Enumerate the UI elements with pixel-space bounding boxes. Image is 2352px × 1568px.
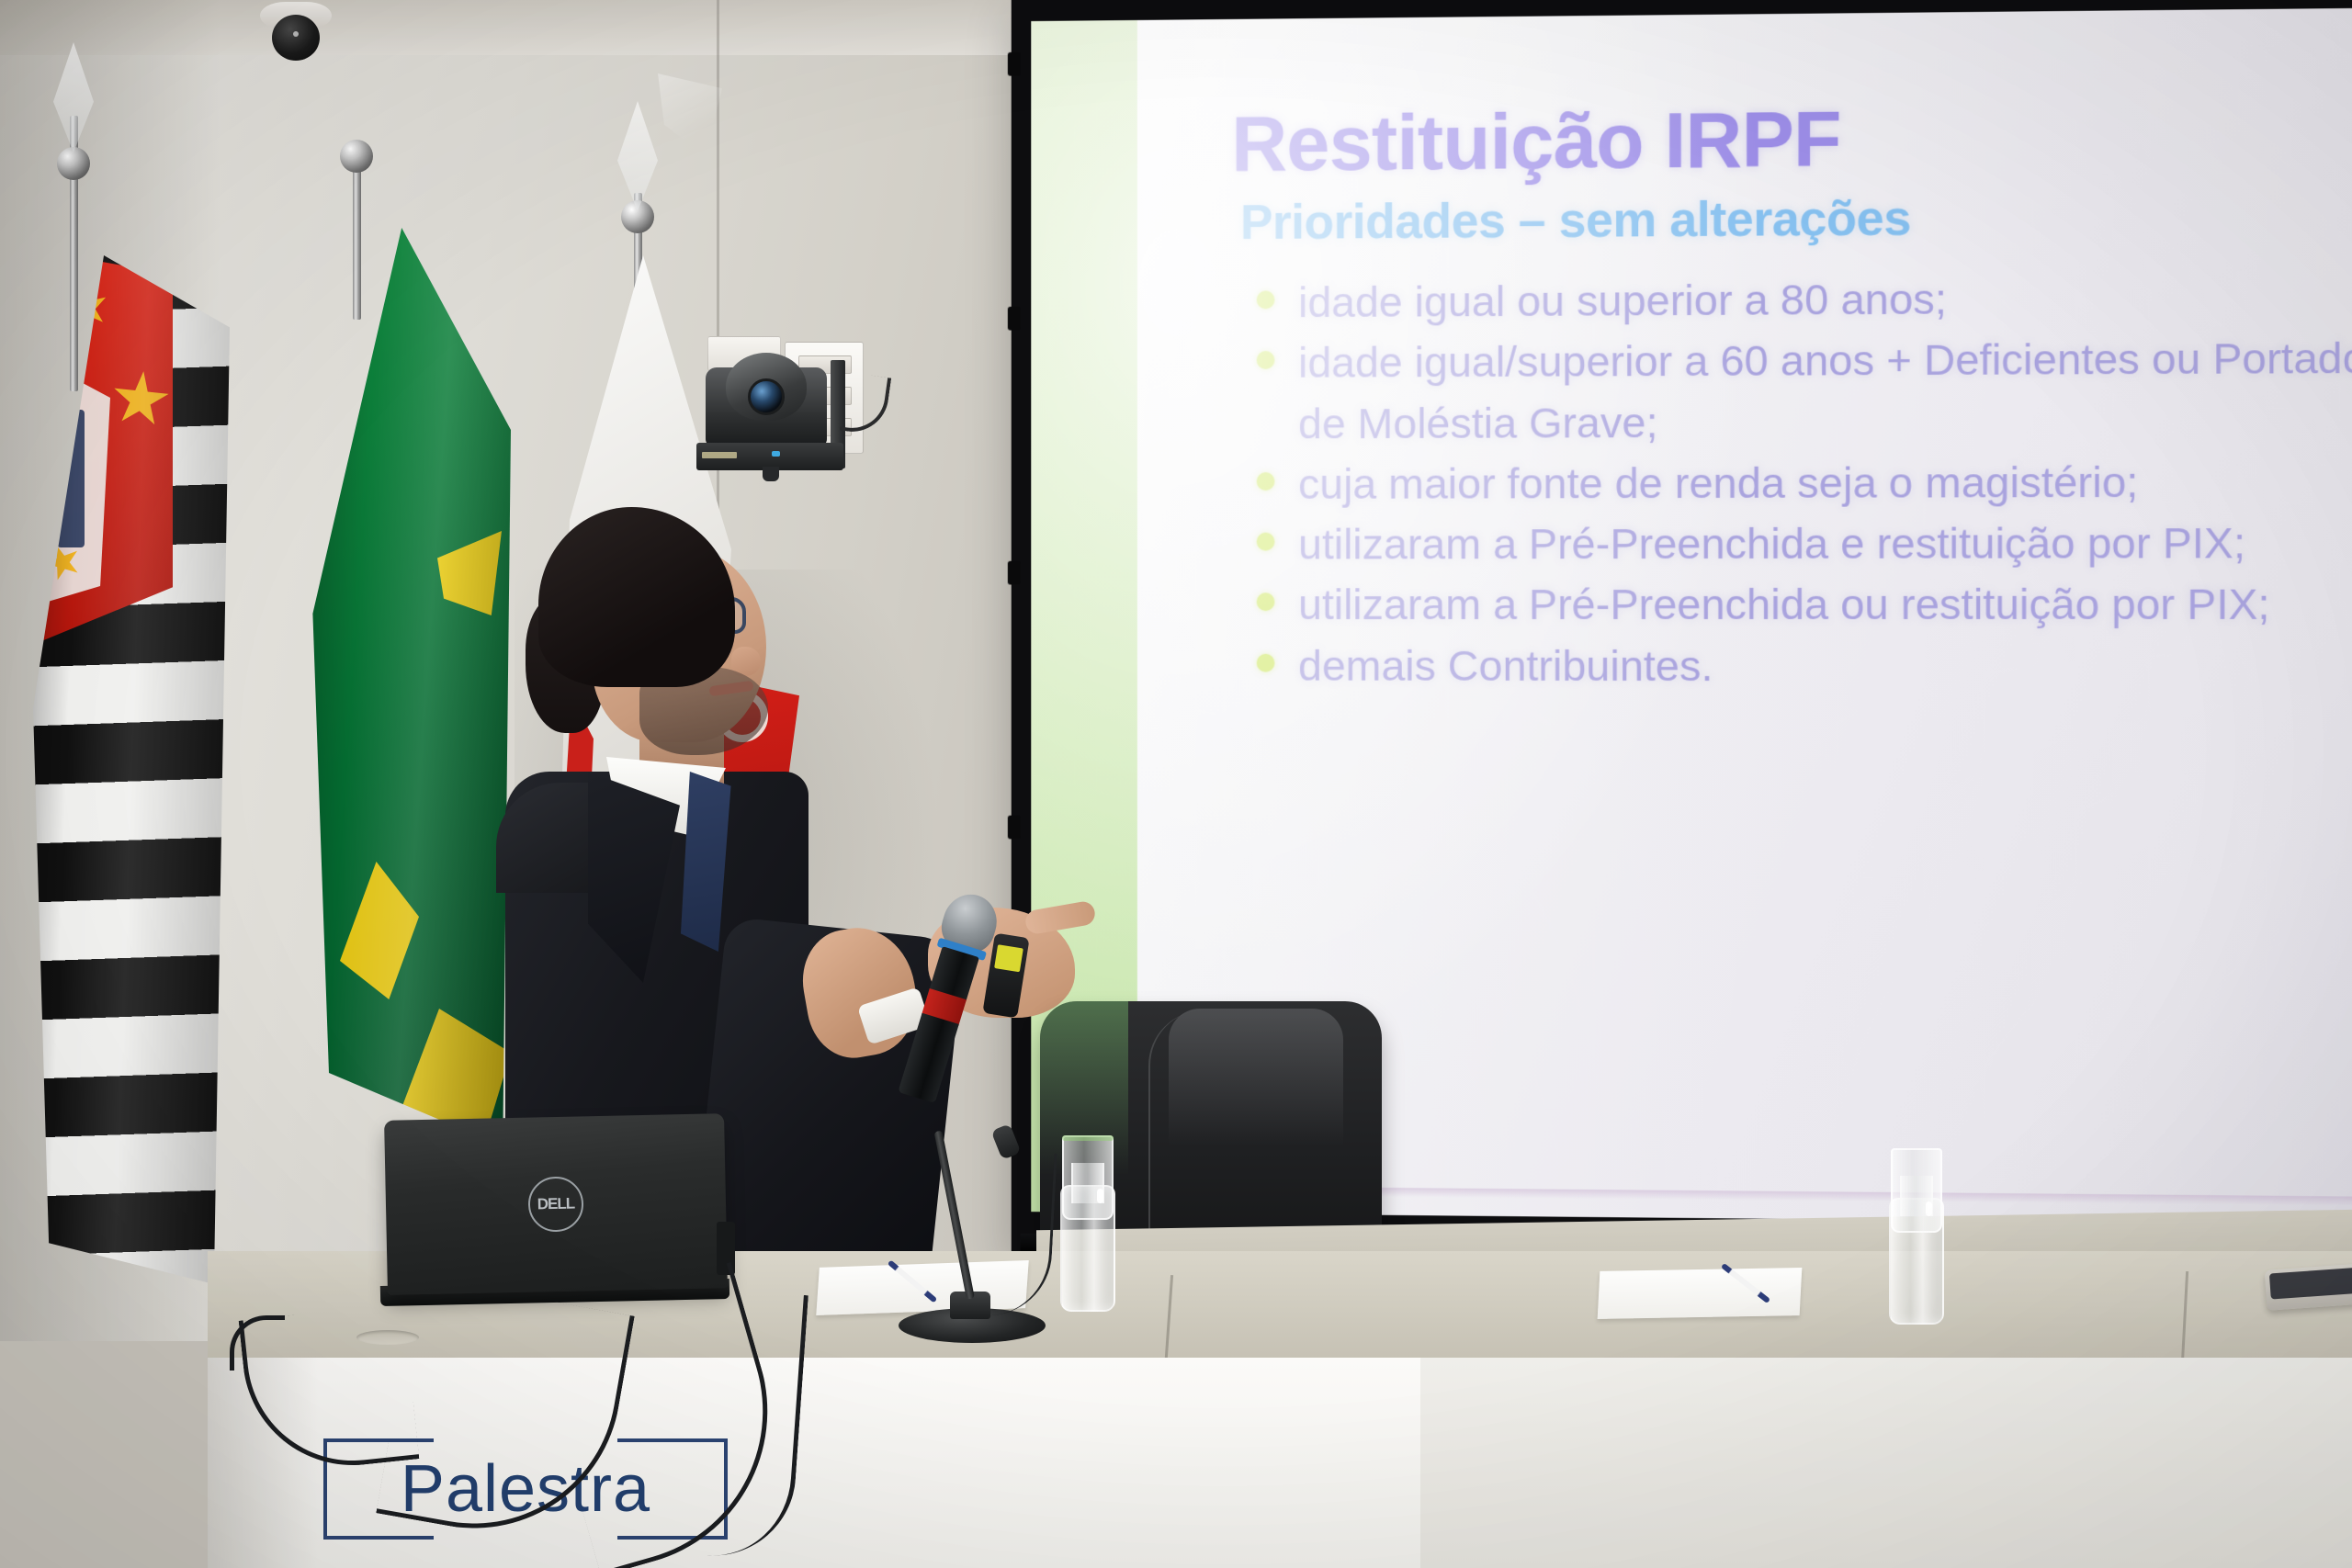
flagpole-finial-ball-2	[340, 140, 373, 173]
slide-bullet-item: utilizaram a Pré-Preenchida e restituiçã…	[1257, 516, 2352, 571]
flagpole-brazil	[353, 154, 361, 320]
carafe-glass-cap	[1062, 1135, 1114, 1220]
carafe-glint	[1926, 1201, 1932, 1216]
camera-lens	[748, 378, 785, 415]
bullet-dot-icon	[1257, 290, 1275, 309]
water-carafe-left	[1055, 1135, 1125, 1319]
dell-laptop[interactable]: DELL	[384, 1113, 728, 1295]
bullet-text: idade igual/superior a 60 anos + Deficie…	[1298, 332, 2352, 390]
slide-bullet-item: utilizaram a Pré-Preenchida ou restituiç…	[1257, 578, 2352, 632]
presentation-scene-screenshot: Restituição IRPF Prioridades – sem alter…	[0, 0, 2352, 1568]
slide-subtitle: Prioridades – sem alterações	[1240, 189, 1911, 251]
bullet-dot-icon	[1257, 472, 1275, 491]
camera-label	[702, 452, 737, 458]
microphone-body-lower	[898, 1013, 958, 1103]
dome-camera-glint	[293, 31, 299, 37]
screen-mount-clip	[1008, 561, 1021, 585]
gooseneck-microphone	[899, 1141, 1046, 1343]
screen-mount-clip	[1008, 816, 1021, 840]
camera-status-led	[772, 451, 780, 457]
slide-bullet-list: idade igual ou superior a 80 anos; idade…	[1257, 269, 2352, 701]
bullet-dot-icon	[1257, 593, 1275, 612]
bullet-text: demais Contribuintes.	[1298, 638, 1713, 692]
slide-bullet-item: demais Contribuintes.	[1257, 638, 2352, 693]
screen-mount-clip	[1008, 307, 1021, 331]
water-carafe-right	[1883, 1148, 1953, 1332]
slide-bullet-item: idade igual/superior a 60 anos + Deficie…	[1257, 331, 2352, 389]
slide-bullet-item: cuja maior fonte de renda seja o magisté…	[1257, 454, 2352, 511]
bullet-dot-icon	[1257, 351, 1275, 369]
smartphone[interactable]	[2265, 1261, 2352, 1311]
dome-camera-lens	[272, 15, 320, 61]
microphone-gooseneck	[934, 1131, 975, 1300]
speaker-hair	[538, 507, 735, 687]
slide-bullet-continuation: de Moléstia Grave;	[1257, 392, 2352, 450]
bullet-text: utilizaram a Pré-Preenchida ou restituiç…	[1298, 578, 2270, 632]
bullet-text: idade igual ou superior a 80 anos;	[1298, 272, 1947, 329]
carafe-glass-rim	[1062, 1135, 1114, 1141]
camera-mount-stub	[763, 467, 779, 481]
ceiling-dome-camera-icon	[260, 2, 332, 62]
bullet-dot-icon	[1257, 533, 1275, 551]
dell-logo-icon: DELL	[527, 1176, 583, 1232]
bullet-text-continuation: de Moléstia Grave;	[1298, 396, 1657, 450]
screen-mount-clip	[1008, 52, 1021, 76]
bullet-text: cuja maior fonte de renda seja o magisté…	[1298, 455, 2138, 510]
clicker-yellow-label	[994, 944, 1023, 972]
carafe-glass-cap	[1891, 1148, 1942, 1233]
slide-bullet-item: idade igual ou superior a 80 anos;	[1257, 269, 2352, 330]
slide-title: Restituição IRPF	[1231, 95, 1840, 190]
bullet-dot-icon	[1257, 653, 1275, 671]
carafe-glint	[1097, 1189, 1103, 1203]
smartphone-screen	[2269, 1266, 2352, 1300]
ptz-wall-camera-icon	[706, 347, 862, 476]
notepad-right	[1598, 1268, 1803, 1319]
bullet-text: utilizaram a Pré-Preenchida e restituiçã…	[1298, 516, 2245, 571]
